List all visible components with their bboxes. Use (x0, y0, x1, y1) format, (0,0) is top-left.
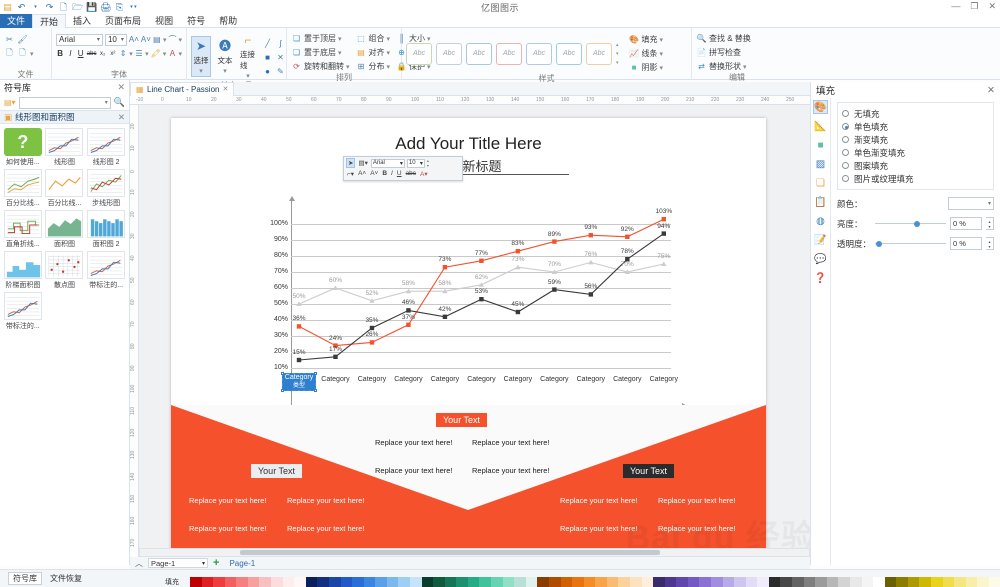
fill-options-group[interactable]: 无填充单色填充渐变填充单色渐变填充图案填充图片或纹理填充 (837, 102, 994, 190)
palette-swatch[interactable] (595, 577, 607, 587)
status-file-recovery[interactable]: 文件恢复 (50, 573, 82, 584)
palette-swatch[interactable] (931, 577, 943, 587)
palette-swatch[interactable] (780, 577, 792, 587)
palette-swatch[interactable] (364, 577, 376, 587)
fill-label[interactable]: 填充 (642, 34, 658, 45)
window-controls[interactable]: — ❐ ✕ (951, 1, 996, 12)
bring-front-icon[interactable]: ❏ (291, 33, 302, 44)
library-thumb-annotated2[interactable] (4, 292, 42, 320)
palette-swatch[interactable] (202, 577, 214, 587)
strikethrough-icon[interactable]: abc (87, 48, 97, 59)
library-item-8[interactable]: 面积图 2 (85, 210, 127, 249)
ruler-v-tick: 110 (130, 407, 136, 415)
bring-front-label[interactable]: 置于顶层 (304, 33, 336, 44)
send-back-label[interactable]: 置于底层 (304, 47, 336, 58)
ruler-h-tick: 60 (311, 97, 317, 103)
bullets-icon[interactable]: ☰ (135, 48, 143, 59)
tool-select-button[interactable]: ➤ 选择 ▾ (191, 36, 211, 77)
palette-swatch[interactable] (989, 577, 1000, 587)
page-tab-page1[interactable]: Page-1 (224, 559, 260, 568)
line-style-icon[interactable]: 📈 (629, 48, 640, 59)
ruler-v-tick: 150 (130, 495, 136, 503)
y-axis-tick-label: 70% (274, 268, 288, 275)
floating-text-toolbar[interactable]: ➤ ▤▾ Arial ▾ 10 ▾ ▴▾ ⌐▾ A˄ A˅ (343, 156, 463, 181)
library-section-header[interactable]: ▣ 线形图和面积图 ✕ (0, 110, 129, 124)
rotate-label[interactable]: 旋转和翻转 (304, 61, 344, 72)
ruler-h-tick: 50 (286, 97, 292, 103)
page-title[interactable]: Add Your Title Here (171, 134, 766, 154)
library-thumb-scatter[interactable] (45, 251, 83, 279)
add-page-button[interactable]: + (213, 557, 219, 569)
line-icon[interactable]: ╱ (262, 38, 273, 49)
shrink-font-icon[interactable]: A˅ (141, 34, 151, 45)
rectangle-icon[interactable]: ■ (262, 52, 273, 63)
palette-swatch[interactable] (514, 577, 526, 587)
color-palette[interactable] (190, 577, 1000, 587)
palette-swatch[interactable] (445, 577, 457, 587)
style-preset-2[interactable]: Abc (436, 43, 462, 65)
ruler-v-tick: 10 (130, 189, 136, 195)
cross-icon[interactable]: ✕ (275, 52, 286, 63)
ribbon-group-clipboard: ✂ 🖌 🗋 🗋▾ 文件 (0, 28, 52, 80)
banner-left-text-box[interactable]: Your Text (251, 464, 302, 478)
paste-dropdown-icon[interactable]: ▾ (30, 50, 34, 58)
data-label: 45% (511, 301, 524, 308)
ribbon-tab-2[interactable]: 插入 (66, 14, 98, 28)
line-icon[interactable]: 📐 (813, 119, 828, 133)
radio-icon[interactable] (842, 149, 849, 156)
selection-handle[interactable] (281, 372, 284, 375)
palette-swatch[interactable] (699, 577, 711, 587)
style-preset-7[interactable]: Abc (586, 43, 612, 65)
symbol-library-panel: 符号库 ✕ ▤▾ ▾ 🔍 ▣ 线形图和面积图 ✕ ?如何使用...线形图线形图 … (0, 80, 130, 565)
symbol-library-header: 符号库 ✕ (0, 80, 129, 95)
palette-swatch[interactable] (676, 577, 688, 587)
palette-swatch[interactable] (966, 577, 978, 587)
scissors-icon[interactable]: ✂ (4, 34, 15, 45)
palette-swatch[interactable] (665, 577, 677, 587)
ribbon-tab-1[interactable]: 开始 (32, 14, 66, 28)
float-font-combo[interactable]: Arial ▾ (371, 159, 405, 168)
document-tab-close-icon[interactable]: ✕ (222, 85, 228, 93)
library-item-2[interactable]: 线形图 2 (85, 128, 127, 167)
library-thumb-line2[interactable] (87, 128, 125, 156)
library-item-5[interactable]: 步线形图 (85, 169, 127, 208)
maximize-button[interactable]: ❐ (970, 1, 978, 12)
status-symbol-library[interactable]: 符号库 (8, 572, 42, 585)
distribute-label[interactable]: 分布 (369, 61, 385, 72)
palette-swatch[interactable] (422, 577, 434, 587)
palette-swatch[interactable] (711, 577, 723, 587)
palette-swatch[interactable] (456, 577, 468, 587)
style-gallery-scroller[interactable]: ▴▾▾ (616, 42, 619, 66)
data-label: 70% (548, 261, 561, 268)
pencil-icon[interactable]: ✎ (275, 66, 286, 77)
properties-rail[interactable]: 🎨 📐 ■ ▨ ❏ 📋 ◍ 📝 💬 ❓ (811, 98, 831, 565)
library-thumb-pctline[interactable] (4, 169, 42, 197)
replace-text-l1[interactable]: Replace your text here! (189, 496, 267, 505)
data-label: 24% (329, 335, 342, 342)
fill-option-1[interactable]: 单色填充 (842, 120, 989, 133)
radio-icon[interactable] (842, 162, 849, 169)
copy-icon[interactable]: 🗋 (4, 48, 15, 59)
transparency-spinner-icon[interactable]: ▴▾ (986, 237, 994, 250)
tool-text-button[interactable]: 🅐 文本 ▾ (216, 37, 234, 76)
replace-text-c2[interactable]: Replace your text here! (472, 438, 550, 447)
palette-swatch[interactable] (804, 577, 816, 587)
palette-swatch[interactable] (642, 577, 654, 587)
fill-option-5[interactable]: 图片或纹理填充 (842, 172, 989, 185)
document-page[interactable]: Add Your Title Here 我的新标题 ➤ ▤▾ Arial ▾ 1… (171, 118, 766, 550)
library-item-11[interactable]: 带标注的... (85, 251, 127, 290)
ruler-v-tick: 50 (130, 277, 136, 283)
palette-swatch[interactable] (896, 577, 908, 587)
text-icon[interactable]: 📋 (813, 195, 828, 209)
align-icon[interactable]: ▤ (153, 34, 161, 45)
palette-swatch[interactable] (873, 577, 885, 587)
float-spinner-icon[interactable]: ▴▾ (427, 158, 429, 168)
align-label[interactable]: 对齐 (369, 47, 385, 58)
float-font-color-icon[interactable]: A▾ (419, 170, 429, 178)
page-collapse-icon[interactable]: ︿ (135, 558, 143, 569)
palette-swatch[interactable] (815, 577, 827, 587)
library-thumb-annotated[interactable] (87, 251, 125, 279)
palette-swatch[interactable] (503, 577, 515, 587)
italic-icon[interactable]: I (66, 48, 74, 59)
palette-swatch[interactable] (723, 577, 735, 587)
palette-swatch[interactable] (688, 577, 700, 587)
send-back-icon[interactable]: ❏ (291, 47, 302, 58)
palette-swatch[interactable] (526, 577, 538, 587)
fill-panel-close-icon[interactable]: ✕ (987, 85, 995, 96)
palette-swatch[interactable] (943, 577, 955, 587)
style-preset-3[interactable]: Abc (466, 43, 492, 65)
palette-swatch[interactable] (734, 577, 746, 587)
library-thumb-area2[interactable] (87, 210, 125, 238)
library-item-4[interactable]: 百分比线... (44, 169, 86, 208)
fill-option-4[interactable]: 图案填充 (842, 159, 989, 172)
palette-swatch[interactable] (977, 577, 989, 587)
float-grow-font-icon[interactable]: A˄ (357, 170, 367, 177)
underline-icon[interactable]: U (77, 48, 85, 59)
palette-swatch[interactable] (283, 577, 295, 587)
palette-swatch[interactable] (410, 577, 422, 587)
style-preset-1[interactable]: Abc (406, 43, 432, 65)
line-spacing-icon[interactable]: ⇕ (119, 48, 127, 59)
banner-right-text-box[interactable]: Your Text (623, 464, 674, 478)
brightness-slider[interactable] (875, 219, 946, 229)
close-button[interactable]: ✕ (988, 1, 996, 12)
palette-swatch[interactable] (236, 577, 248, 587)
ribbon-tab-6[interactable]: 帮助 (212, 14, 244, 28)
replace-shape-icon[interactable]: ⇄ (696, 61, 707, 72)
question-icon[interactable]: ? (4, 128, 42, 156)
curve-icon[interactable]: ∫ (275, 38, 286, 49)
palette-swatch[interactable] (468, 577, 480, 587)
palette-swatch[interactable] (317, 577, 329, 587)
fill-icon[interactable]: 🎨 (629, 34, 640, 45)
text-icon: 🅐 (217, 38, 233, 54)
ruler-h-tick: 80 (361, 97, 367, 103)
shadow-icon[interactable]: ■ (629, 62, 640, 73)
palette-swatch[interactable] (248, 577, 260, 587)
line-style-label[interactable]: 线条 (642, 48, 658, 59)
spellcheck-icon[interactable]: 📄 (696, 47, 707, 58)
palette-label: 填充 (165, 577, 179, 587)
library-item-1[interactable]: 线形图 (44, 128, 86, 167)
palette-swatch[interactable] (213, 577, 225, 587)
status-bar-left: 符号库 文件恢复 (0, 572, 130, 585)
replace-text-r1[interactable]: Replace your text here! (560, 496, 638, 505)
drawing-canvas[interactable]: Add Your Title Here 我的新标题 ➤ ▤▾ Arial ▾ 1… (139, 105, 810, 565)
fill-option-2[interactable]: 渐变填充 (842, 133, 989, 146)
style-preset-5[interactable]: Abc (526, 43, 552, 65)
palette-swatch[interactable] (769, 577, 781, 587)
tool-connector-button[interactable]: ⌐ 连接线 ▾ (239, 31, 257, 81)
palette-swatch[interactable] (549, 577, 561, 587)
palette-swatch[interactable] (271, 577, 283, 587)
library-thumb-pctline2[interactable] (45, 169, 83, 197)
palette-swatch[interactable] (862, 577, 874, 587)
replace-text-c4[interactable]: Replace your text here! (472, 466, 550, 475)
transparency-value[interactable]: 0 % (950, 237, 982, 250)
replace-text-c3[interactable]: Replace your text here! (375, 466, 453, 475)
palette-swatch[interactable] (919, 577, 931, 587)
float-connector-icon[interactable]: ⌐▾ (346, 170, 355, 178)
palette-swatch[interactable] (618, 577, 630, 587)
y-axis-tick-label: 40% (274, 316, 288, 323)
ruler-h-tick: 140 (511, 97, 519, 103)
highlight-icon[interactable]: 🖍 (151, 48, 161, 59)
banner-top-text-box[interactable]: Your Text (436, 413, 487, 427)
library-thumb-stepline[interactable] (87, 169, 125, 197)
ruler-v-tick: 20 (130, 123, 136, 129)
ruler-v-tick: 30 (130, 233, 136, 239)
find-replace-icon[interactable]: 🔍 (696, 33, 707, 44)
fill-option-0[interactable]: 无填充 (842, 107, 989, 120)
palette-swatch[interactable] (757, 577, 769, 587)
float-align-icon[interactable]: ▤▾ (357, 159, 368, 167)
palette-swatch[interactable] (225, 577, 237, 587)
library-thumb-area[interactable] (45, 210, 83, 238)
library-item-9[interactable]: 阶梯面积图 (2, 251, 44, 290)
palette-swatch[interactable] (537, 577, 549, 587)
bold-icon[interactable]: B (56, 48, 64, 59)
fill-color-label: 颜色： (837, 198, 871, 210)
palette-swatch[interactable] (259, 577, 271, 587)
palette-swatch[interactable] (341, 577, 353, 587)
library-dropdown-icon[interactable]: ▤▾ (4, 98, 16, 107)
replace-text-l2[interactable]: Replace your text here! (287, 496, 365, 505)
gradient-icon[interactable]: ▨ (813, 157, 828, 171)
font-name-combo[interactable]: Arial▾ (56, 34, 103, 46)
library-item-10[interactable]: 散点图 (44, 251, 86, 290)
float-italic-icon[interactable]: I (390, 170, 394, 177)
comment-icon[interactable]: 💬 (813, 252, 828, 266)
minimize-button[interactable]: — (951, 1, 960, 12)
ruler-v-tick: 120 (130, 429, 136, 437)
style-preset-6[interactable]: Abc (556, 43, 582, 65)
palette-swatch[interactable] (375, 577, 387, 587)
brightness-spinner-icon[interactable]: ▴▾ (986, 217, 994, 230)
theme-icon[interactable]: ◍ (813, 214, 828, 228)
float-underline-icon[interactable]: U (396, 170, 403, 177)
style-preset-4[interactable]: Abc (496, 43, 522, 65)
palette-swatch[interactable] (491, 577, 503, 587)
group-label-font: 字体 (56, 70, 182, 80)
radio-icon[interactable] (842, 175, 849, 182)
text-direction-icon[interactable]: ⌒ (168, 34, 176, 45)
symbol-search-input[interactable]: ▾ (19, 97, 111, 109)
palette-swatch[interactable] (792, 577, 804, 587)
transparency-slider[interactable] (875, 239, 946, 249)
library-item-3[interactable]: 百分比线... (2, 169, 44, 208)
brush-icon[interactable]: 🖌 (17, 34, 28, 45)
window-title: 亿图图示 (0, 1, 1000, 14)
palette-swatch[interactable] (908, 577, 920, 587)
palette-swatch[interactable] (607, 577, 619, 587)
palette-swatch[interactable] (306, 577, 318, 587)
ribbon-tab-4[interactable]: 视图 (148, 14, 180, 28)
palette-swatch[interactable] (190, 577, 202, 587)
palette-swatch[interactable] (479, 577, 491, 587)
palette-swatch[interactable] (433, 577, 445, 587)
palette-swatch[interactable] (630, 577, 642, 587)
data-label: 60% (329, 277, 342, 284)
library-item-0[interactable]: ?如何使用... (2, 128, 44, 167)
replace-text-c1[interactable]: Replace your text here! (375, 438, 453, 447)
rotate-icon[interactable]: ⟳ (291, 61, 302, 72)
float-select-icon[interactable]: ➤ (346, 158, 355, 168)
float-shrink-font-icon[interactable]: A˅ (369, 170, 379, 177)
data-label: 37% (402, 314, 415, 321)
library-thumb-rightangle[interactable] (4, 210, 42, 238)
palette-swatch[interactable] (398, 577, 410, 587)
note-icon[interactable]: 📝 (813, 233, 828, 247)
subscript-icon[interactable]: x₂ (98, 48, 106, 59)
ellipse-icon[interactable]: ● (262, 66, 273, 77)
selection-handle[interactable] (281, 389, 284, 392)
horizontal-scrollbar[interactable] (139, 548, 810, 557)
scrollbar-thumb[interactable] (240, 550, 660, 555)
symbol-library-close-icon[interactable]: ✕ (117, 82, 125, 93)
document-tab[interactable]: ▦ Line Chart - Passion ✕ (130, 82, 234, 96)
library-item-7[interactable]: 面积图 (44, 210, 86, 249)
library-thumb-line[interactable] (45, 128, 83, 156)
library-item-6[interactable]: 直角折线... (2, 210, 44, 249)
palette-swatch[interactable] (827, 577, 839, 587)
horizontal-ruler[interactable]: -100102030405060708090100110120130140150… (130, 96, 810, 105)
float-bold-icon[interactable]: B (381, 170, 388, 177)
palette-swatch[interactable] (329, 577, 341, 587)
ruler-v-tick: 0 (130, 170, 136, 173)
ribbon-tabs[interactable]: 文件开始插入页面布局视图符号帮助 (0, 14, 1000, 28)
palette-swatch[interactable] (572, 577, 584, 587)
ribbon-tab-3[interactable]: 页面布局 (98, 14, 148, 28)
ribbon-tab-bar: 文件开始插入页面布局视图符号帮助 ▣ ⇗ 👤 ⚙ ☁ (0, 14, 1000, 28)
section-close-icon[interactable]: ✕ (118, 112, 125, 123)
library-thumb-steparea[interactable] (4, 251, 42, 279)
grow-font-icon[interactable]: A˄ (129, 34, 139, 45)
find-replace-label[interactable]: 查找 & 替换 (709, 33, 751, 44)
ribbon: ✂ 🖌 🗋 🗋▾ 文件 Arial▾ 10▾ (0, 28, 1000, 80)
palette-swatch[interactable] (584, 577, 596, 587)
ribbon-group-arrange: ❏置于顶层▾ ❏置于底层▾ ⟳旋转和翻转▾ ⬚组合▾ ▤对齐▾ ⊞分布▾ ║大小… (287, 28, 402, 80)
spellcheck-label[interactable]: 拼写检查 (709, 47, 741, 58)
distribute-icon[interactable]: ⊞ (356, 61, 367, 72)
float-size-combo[interactable]: 10 ▾ (407, 159, 425, 168)
replace-text-l3[interactable]: Replace your text here! (189, 524, 267, 533)
ruler-v-tick: 160 (130, 517, 136, 525)
brightness-value[interactable]: 0 % (950, 217, 982, 230)
palette-swatch[interactable] (294, 577, 306, 587)
ruler-v-tick: 80 (130, 343, 136, 349)
replace-text-l4[interactable]: Replace your text here! (287, 524, 365, 533)
page-select-combo[interactable]: Page-1 ▾ (148, 558, 208, 568)
radio-icon[interactable] (842, 110, 849, 117)
paste-icon[interactable]: 🗋 (17, 48, 28, 59)
align-objects-icon[interactable]: ▤ (356, 47, 367, 58)
data-label: 42% (438, 306, 451, 313)
palette-swatch[interactable] (387, 577, 399, 587)
palette-swatch[interactable] (838, 577, 850, 587)
group-label[interactable]: 组合 (369, 33, 385, 44)
search-icon[interactable]: 🔍 (114, 97, 125, 108)
fill-option-3[interactable]: 单色渐变填充 (842, 146, 989, 159)
y-axis-tick-label: 80% (274, 252, 288, 259)
ruler-v-tick: 10 (130, 145, 136, 151)
palette-swatch[interactable] (352, 577, 364, 587)
palette-swatch[interactable] (954, 577, 966, 587)
ribbon-tab-5[interactable]: 符号 (180, 14, 212, 28)
library-item-label: 百分比线... (3, 198, 43, 208)
palette-swatch[interactable] (850, 577, 862, 587)
library-item-label: 带标注的... (3, 321, 43, 331)
ruler-v-tick: 90 (130, 365, 136, 371)
help-icon[interactable]: ❓ (813, 271, 828, 285)
palette-swatch[interactable] (653, 577, 665, 587)
replace-text-r2[interactable]: Replace your text here! (658, 496, 736, 505)
fill-icon[interactable]: 🎨 (813, 100, 828, 114)
palette-swatch[interactable] (561, 577, 573, 587)
float-strikethrough-icon[interactable]: abc (405, 170, 417, 177)
radio-icon[interactable] (842, 136, 849, 143)
vertical-ruler[interactable]: 2010010203040506070809010011012013014015… (130, 105, 139, 565)
group-icon[interactable]: ⬚ (356, 33, 367, 44)
shadow-label[interactable]: 阴影 (642, 62, 658, 73)
ribbon-tab-0[interactable]: 文件 (0, 14, 32, 28)
library-item-12[interactable]: 带标注的... (2, 292, 44, 331)
shadow-icon[interactable]: ❏ (813, 176, 828, 190)
ruler-h-tick: 220 (711, 97, 719, 103)
replace-shape-label[interactable]: 替换形状 (709, 61, 741, 72)
color-icon[interactable]: ■ (813, 138, 828, 152)
font-size-combo[interactable]: 10▾ (105, 34, 127, 46)
selection-handle[interactable] (314, 389, 317, 392)
ruler-h-tick: 70 (336, 97, 342, 103)
page-select-value: Page-1 (151, 559, 175, 568)
line-chart[interactable]: 10%20%30%40%50%60%70%80%90%100% Category… (291, 208, 686, 388)
palette-swatch[interactable] (746, 577, 758, 587)
fill-properties-panel: 填充 ✕ 🎨 📐 ■ ▨ ❏ 📋 ◍ 📝 💬 ❓ 无填充单色填充渐变填充单色渐变… (810, 82, 1000, 565)
data-label: 50% (292, 293, 305, 300)
radio-icon[interactable] (842, 123, 849, 130)
superscript-icon[interactable]: x² (109, 48, 117, 59)
ribbon-group-basic-tools: ➤ 选择 ▾ 🅐 文本 ▾ ⌐ 连接线 ▾ ╱∫ ■✕ ●✎ (187, 28, 287, 80)
font-color-icon[interactable]: A (168, 48, 176, 59)
fill-color-picker[interactable]: ▾ (948, 197, 994, 210)
palette-swatch[interactable] (885, 577, 897, 587)
